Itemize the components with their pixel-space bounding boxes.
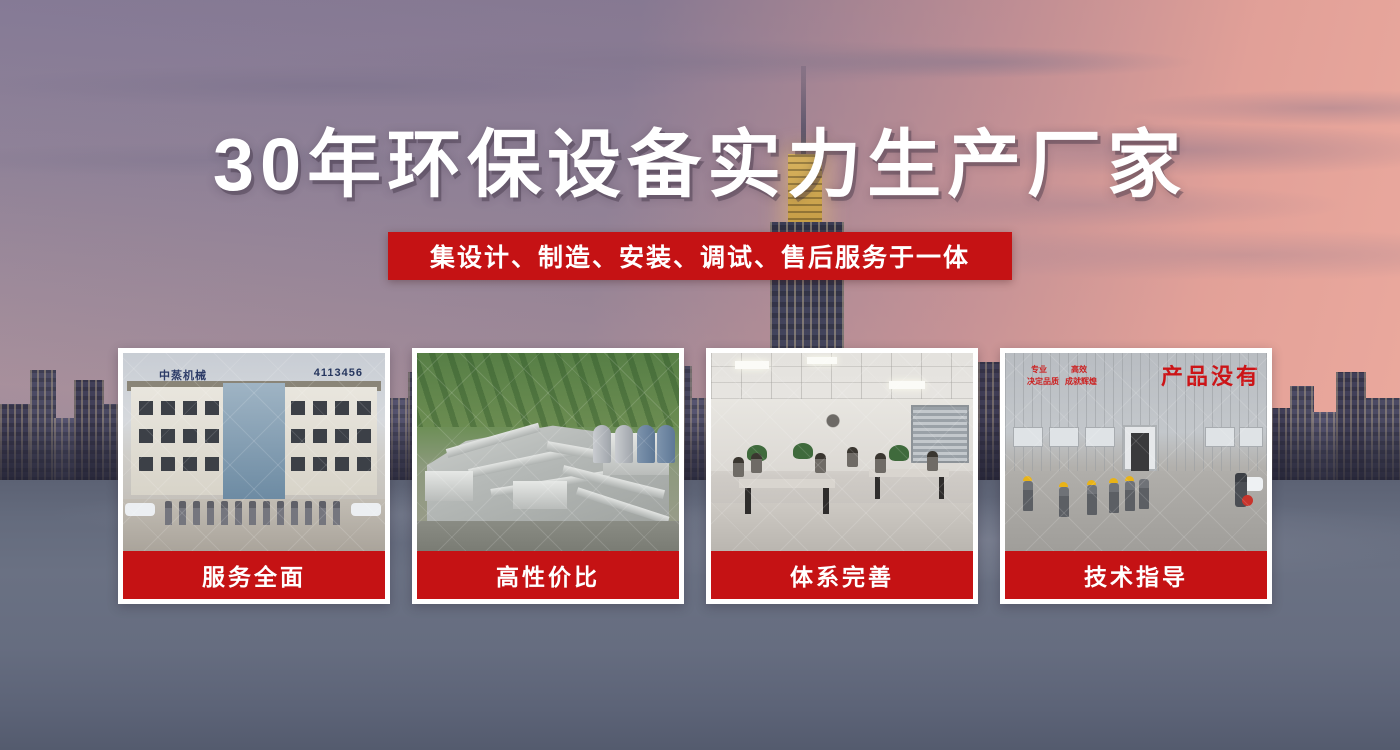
page-title: 30年环保设备实力生产厂家 [0,128,1400,202]
feature-card[interactable]: 产品没有 专业 决定品质 高效 成就辉煌 [1000,348,1272,604]
feature-card[interactable]: 中蒸机械 4113456 [118,348,390,604]
feature-card-list: 中蒸机械 4113456 [118,348,1282,604]
office-building-photo: 中蒸机械 4113456 [123,353,385,551]
feature-card-caption: 高性价比 [417,551,679,599]
feature-card-caption: 服务全面 [123,551,385,599]
factory-wall-slogan-3: 高效 [1071,365,1087,375]
feature-card[interactable]: 体系完善 [706,348,978,604]
subtitle-text: 集设计、制造、安装、调试、售后服务于一体 [430,238,970,274]
subtitle-banner: 集设计、制造、安装、调试、售后服务于一体 [388,232,1012,280]
aerial-plant-photo [417,353,679,551]
office-interior-photo [711,353,973,551]
factory-wall-slogan-1: 专业 [1031,365,1047,375]
promo-banner: 30年环保设备实力生产厂家 集设计、制造、安装、调试、售后服务于一体 中蒸机械 … [0,0,1400,750]
factory-wall-slogan-2: 决定品质 [1027,377,1059,387]
feature-card[interactable]: 高性价比 [412,348,684,604]
factory-wall-slogan-4: 成就辉煌 [1065,377,1097,387]
building-phone-text: 4113456 [314,367,363,379]
feature-card-caption: 技术指导 [1005,551,1267,599]
factory-wall-slogan: 产品没有 [1161,359,1261,391]
feature-card-caption: 体系完善 [711,551,973,599]
factory-workers-photo: 产品没有 专业 决定品质 高效 成就辉煌 [1005,353,1267,551]
building-sign-text: 中蒸机械 [159,367,207,383]
